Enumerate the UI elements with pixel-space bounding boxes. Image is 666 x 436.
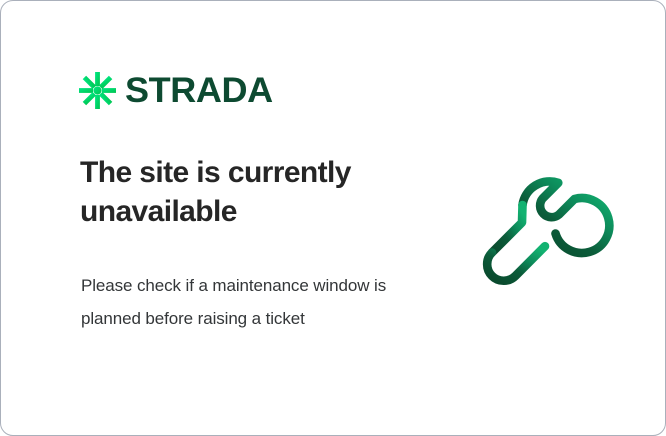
page-title: The site is currently unavailable [80, 154, 410, 231]
brand-logo: STRADA [79, 70, 268, 110]
maintenance-page: STRADA The site is currently unavailable… [0, 0, 666, 436]
asterisk-star-icon [79, 72, 116, 109]
wrench-icon [456, 153, 616, 313]
brand-wordmark: STRADA [125, 73, 273, 108]
page-description: Please check if a maintenance window is … [81, 270, 391, 336]
